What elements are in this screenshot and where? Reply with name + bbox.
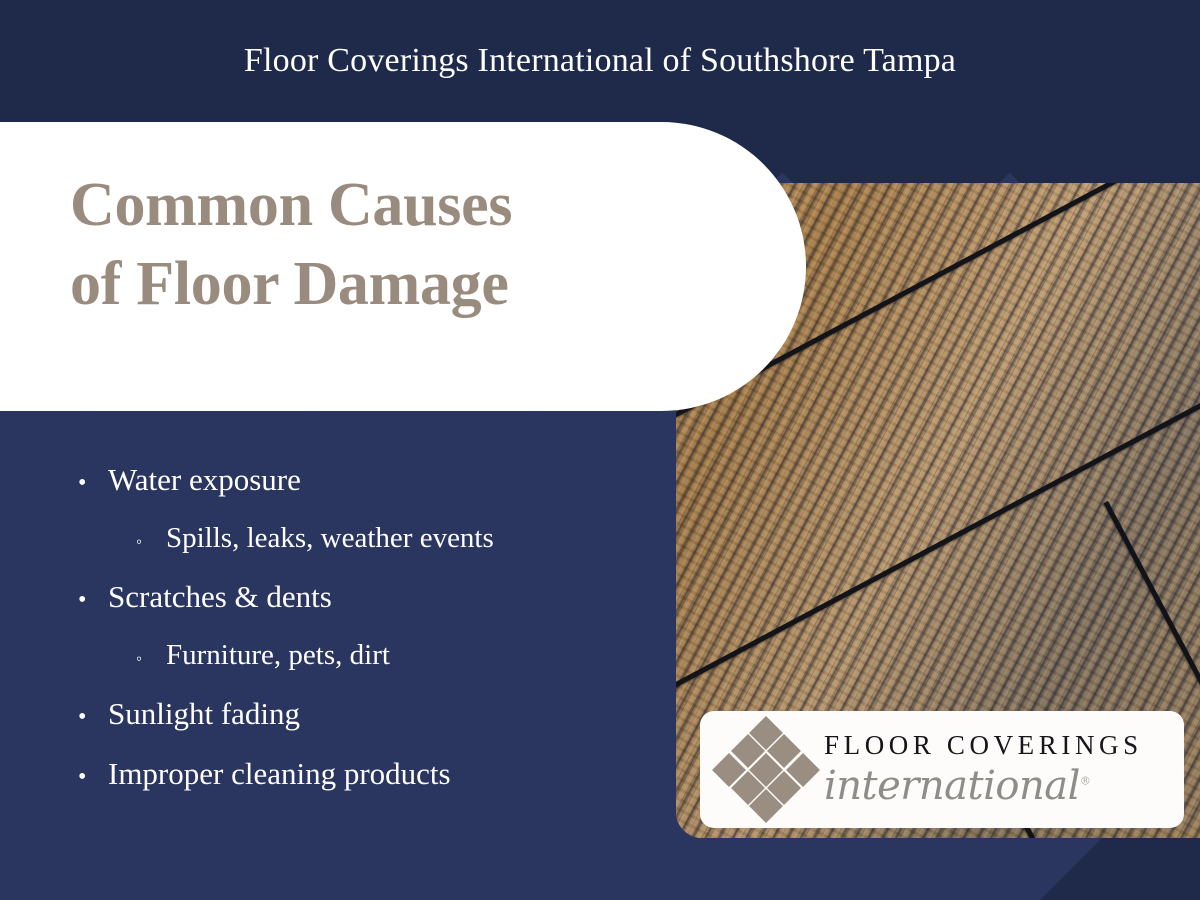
bullet-item: •Water exposure — [78, 462, 678, 498]
bullet-list: •Water exposure◦Spills, leaks, weather e… — [78, 462, 678, 816]
bullet-disc-icon: • — [78, 765, 108, 789]
logo-line-international: international® — [824, 763, 1176, 809]
watermark-diamond — [0, 626, 26, 900]
page-title-line-2: of Floor Damage — [70, 245, 730, 324]
bullet-item: •Sunlight fading — [78, 696, 678, 732]
bullet-circle-icon: ◦ — [136, 650, 166, 667]
bullet-label: Furniture, pets, dirt — [166, 639, 678, 672]
registered-mark-icon: ® — [1080, 775, 1091, 788]
slide: Floor Coverings International of Southsh… — [0, 0, 1200, 900]
page-title-line-1: Common Causes — [70, 166, 730, 245]
watermark-diamond — [0, 399, 26, 703]
logo-card: FLOOR COVERINGS international® — [700, 711, 1184, 828]
logo-line-floor-coverings: FLOOR COVERINGS — [824, 730, 1176, 761]
bullet-item: •Scratches & dents — [78, 579, 678, 615]
bullet-label: Spills, leaks, weather events — [166, 522, 678, 555]
bullet-label: Scratches & dents — [108, 579, 678, 615]
logo-script-text: international — [824, 763, 1080, 809]
bullet-label: Sunlight fading — [108, 696, 678, 732]
page-title: Common Causes of Floor Damage — [70, 166, 730, 323]
bullet-item: ◦Spills, leaks, weather events — [136, 522, 678, 555]
bullet-item: ◦Furniture, pets, dirt — [136, 639, 678, 672]
logo-wordmark: FLOOR COVERINGS international® — [818, 730, 1184, 809]
bullet-disc-icon: • — [78, 705, 108, 729]
bullet-label: Water exposure — [108, 462, 678, 498]
bullet-item: •Improper cleaning products — [78, 756, 678, 792]
bullet-disc-icon: • — [78, 471, 108, 495]
bullet-disc-icon: • — [78, 588, 108, 612]
header-band: Floor Coverings International of Southsh… — [0, 0, 1200, 122]
bullet-label: Improper cleaning products — [108, 756, 678, 792]
title-card: Common Causes of Floor Damage — [0, 122, 806, 411]
header-title: Floor Coverings International of Southsh… — [0, 0, 1200, 122]
bullet-circle-icon: ◦ — [136, 533, 166, 550]
diamond-logo-icon — [714, 718, 818, 822]
